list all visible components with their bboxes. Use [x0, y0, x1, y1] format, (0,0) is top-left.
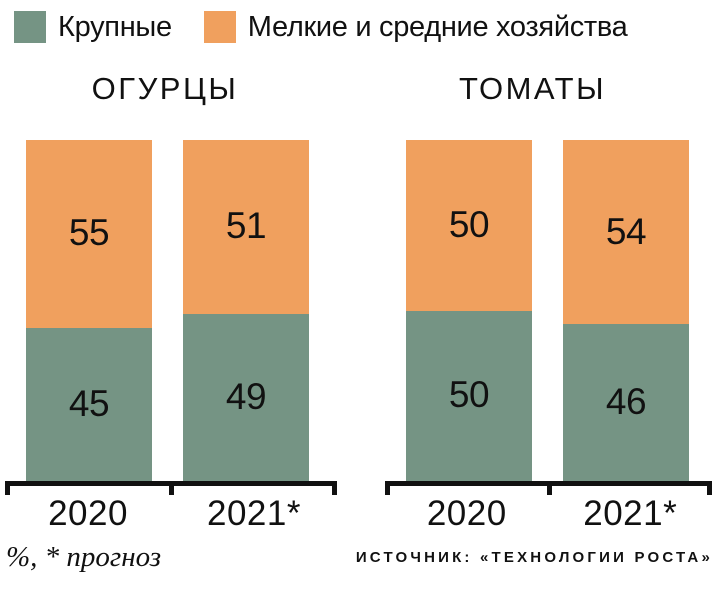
chart-title-cucumbers: ОГУРЦЫ: [0, 73, 345, 104]
plot-area-cucumbers: 55 45 51 49: [26, 140, 308, 481]
bar-value-label: 51: [226, 207, 266, 244]
x-tick-label: 2020: [385, 496, 549, 540]
axis-tick-start: [385, 481, 390, 495]
bar-value-label: 55: [69, 214, 109, 251]
x-tick-labels-tomatoes: 2020 2021*: [385, 496, 712, 540]
bar-stack-tomatoes-2020: 50 50: [406, 140, 532, 481]
bar-segment-large: 46: [563, 324, 689, 481]
x-tick-label: 2021*: [171, 496, 337, 540]
chart-title-tomatoes: ТОМАТЫ: [352, 73, 713, 104]
bar-segment-large: 50: [406, 311, 532, 482]
axis-tick-end: [707, 481, 712, 495]
bar-segment-small-medium: 50: [406, 140, 532, 311]
x-tick-label: 2020: [5, 496, 171, 540]
axis-tick-mid: [547, 481, 552, 495]
chart-panel-tomatoes: ТОМАТЫ 50 50 54 46 2020 2021*: [360, 0, 721, 591]
x-axis-tomatoes: [385, 481, 712, 495]
bar-segment-small-medium: 54: [563, 140, 689, 324]
axis-tick-start: [5, 481, 10, 495]
bar-value-label: 50: [449, 206, 489, 243]
bar-stack-cucumbers-2021: 51 49: [183, 140, 309, 481]
bar-segment-large: 45: [26, 328, 152, 481]
x-tick-labels-cucumbers: 2020 2021*: [5, 496, 337, 540]
x-axis-cucumbers: [5, 481, 337, 495]
bar-stack-cucumbers-2020: 55 45: [26, 140, 152, 481]
bar-segment-large: 49: [183, 314, 309, 481]
x-tick-label: 2021*: [549, 496, 713, 540]
bar-value-label: 45: [69, 385, 109, 422]
axis-tick-mid: [169, 481, 174, 495]
axis-tick-end: [332, 481, 337, 495]
bar-stack-tomatoes-2021: 54 46: [563, 140, 689, 481]
chart-footnote: %, * прогноз: [6, 543, 161, 572]
bar-segment-small-medium: 55: [26, 140, 152, 328]
bar-value-label: 54: [606, 213, 646, 250]
bar-value-label: 49: [226, 378, 266, 415]
chart-panel-cucumbers: ОГУРЦЫ 55 45 51 49 2020 2021*: [0, 0, 360, 591]
bar-value-label: 50: [449, 376, 489, 413]
bar-segment-small-medium: 51: [183, 140, 309, 314]
chart-source: ИСТОЧНИК: «ТЕХНОЛОГИИ РОСТА»: [356, 550, 713, 565]
bar-value-label: 46: [606, 383, 646, 420]
plot-area-tomatoes: 50 50 54 46: [406, 140, 688, 481]
